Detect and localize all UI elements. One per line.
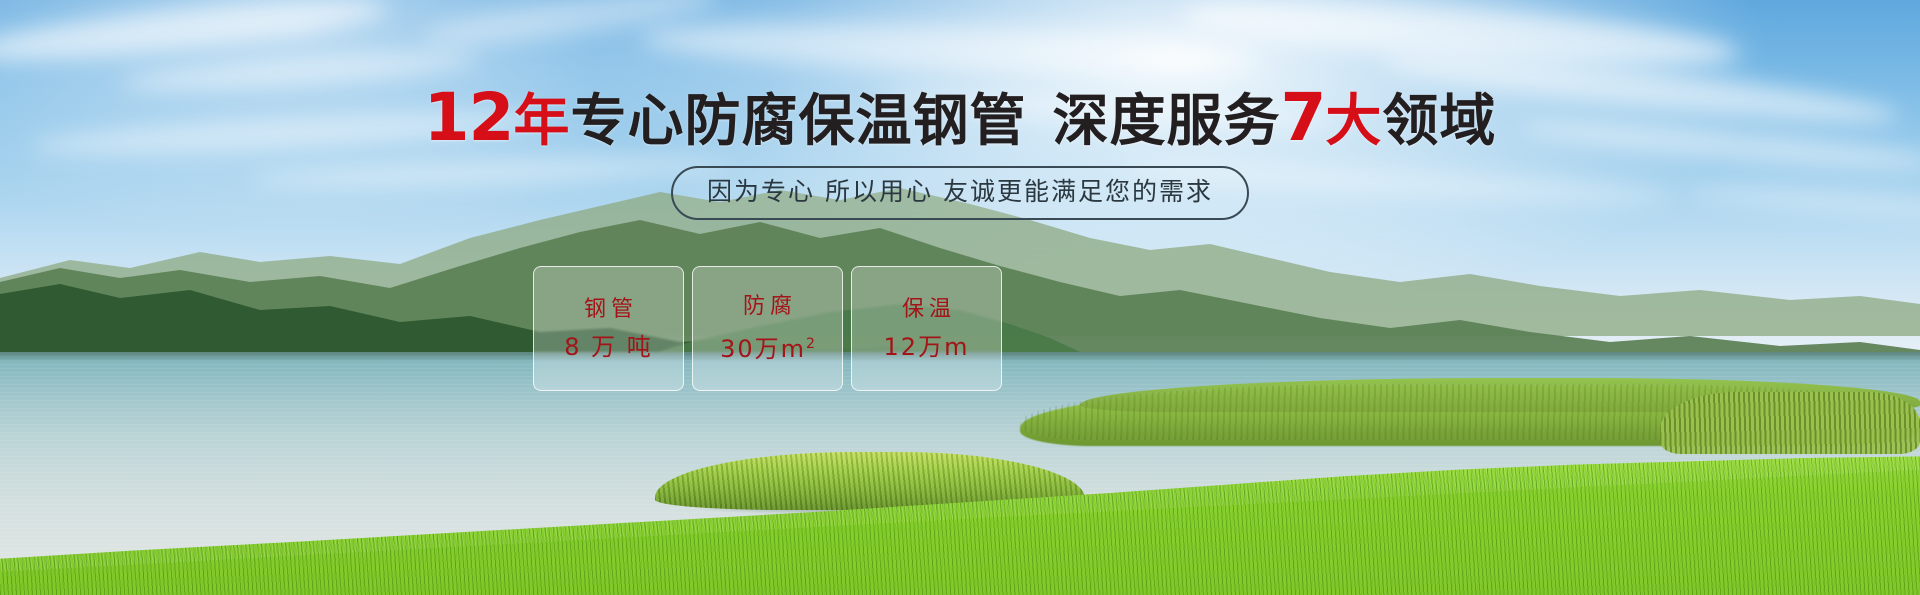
- headline-years-number: 12: [424, 79, 514, 156]
- page-title: 12年专心防腐保温钢管深度服务7大领域: [0, 86, 1920, 154]
- stat-card-label: 保温: [897, 297, 956, 323]
- headline-years-suffix: 年: [513, 89, 570, 154]
- stat-card-value: 30万m2: [720, 330, 815, 363]
- headline-second-part: 深度服务: [1052, 89, 1280, 154]
- stats-card-group: 钢管 8 万 吨 防腐 30万m2 保温 12万m: [533, 266, 1002, 391]
- stat-card-value: 12万m: [884, 333, 970, 361]
- subtitle-pill: 因为专心 所以用心 友诚更能满足您的需求: [671, 166, 1249, 220]
- headline-tail-text: 领域: [1382, 89, 1496, 154]
- stat-card-label: 防腐: [738, 294, 797, 320]
- stat-card-insulation[interactable]: 保温 12万m: [851, 266, 1002, 391]
- stat-value-text: 8 万 吨: [564, 333, 653, 361]
- stat-value-text: 30万m: [720, 335, 806, 363]
- hero-banner: 12年专心防腐保温钢管深度服务7大领域 因为专心 所以用心 友诚更能满足您的需求…: [0, 0, 1920, 595]
- stat-value-text: 12万m: [884, 333, 970, 361]
- subtitle-container: 因为专心 所以用心 友诚更能满足您的需求: [0, 166, 1920, 220]
- banner-content: 12年专心防腐保温钢管深度服务7大领域 因为专心 所以用心 友诚更能满足您的需求…: [0, 0, 1920, 595]
- stat-card-anticorrosion[interactable]: 防腐 30万m2: [692, 266, 843, 391]
- headline-main-text: 专心防腐保温钢管: [570, 89, 1026, 154]
- stat-card-label: 钢管: [579, 297, 638, 323]
- stat-card-steel-pipe[interactable]: 钢管 8 万 吨: [533, 266, 684, 391]
- headline-fields-number: 7: [1280, 79, 1325, 156]
- headline-fields-suffix: 大: [1325, 89, 1382, 154]
- stat-value-superscript: 2: [806, 336, 815, 352]
- stat-card-value: 8 万 吨: [564, 333, 653, 361]
